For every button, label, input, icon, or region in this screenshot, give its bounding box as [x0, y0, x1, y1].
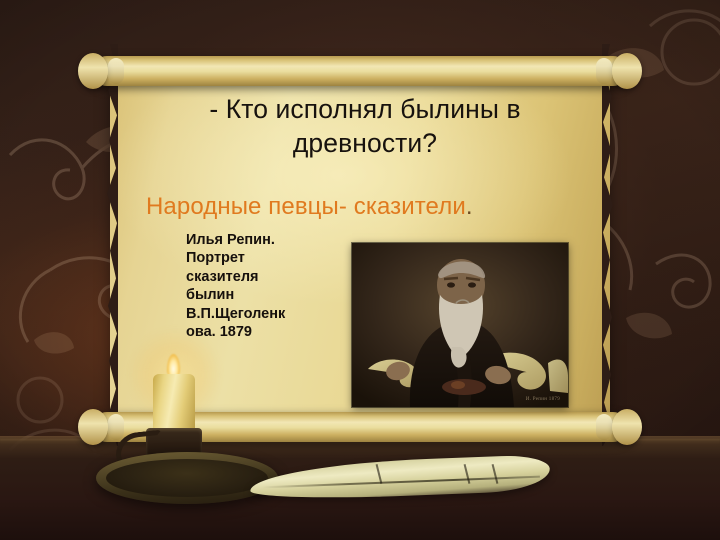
- question-line-1: - Кто исполнял былины в: [150, 93, 580, 127]
- caption-line: В.П.Щеголенк: [186, 305, 318, 323]
- slide-answer: Народные певцы- сказители.: [146, 194, 616, 220]
- repin-portrait-image: И. Репин 1879: [352, 243, 568, 407]
- feather-quill-icon: [250, 452, 550, 510]
- presentation-slide: И. Репин 1879 - Кто исполнял былины в др…: [0, 0, 720, 540]
- scroll-torn-edge-left: [104, 44, 118, 446]
- caption-line: Илья Репин.: [186, 231, 318, 249]
- candle-plate-inner: [106, 459, 268, 497]
- caption-line: ова. 1879: [186, 323, 318, 341]
- scroll-roller-cap-left: [78, 409, 108, 445]
- scroll-roller-cap-right: [612, 409, 642, 445]
- scroll-roller-cap-right: [612, 53, 642, 89]
- slide-question: - Кто исполнял былины в древности?: [150, 93, 580, 160]
- scroll-roller-lip-right: [596, 58, 612, 84]
- scroll-roller-top: [92, 56, 628, 86]
- question-line-2: древности?: [150, 127, 580, 161]
- caption-line: сказителя: [186, 268, 318, 286]
- portrait-signature: И. Репин 1879: [526, 397, 560, 402]
- scroll-roller-lip-left: [108, 58, 124, 84]
- candle-wax: [153, 374, 195, 434]
- answer-period: .: [466, 193, 473, 220]
- scroll-roller-lip-right: [596, 414, 612, 440]
- image-caption: Илья Репин. Портрет сказителя былин В.П.…: [186, 231, 318, 341]
- scroll-roller-cap-left: [78, 53, 108, 89]
- caption-line: былин: [186, 286, 318, 304]
- caption-line: Портрет: [186, 249, 318, 267]
- answer-text: Народные певцы- сказители: [146, 193, 466, 220]
- portrait-painting: [352, 243, 568, 407]
- scroll-torn-edge-right: [602, 44, 616, 446]
